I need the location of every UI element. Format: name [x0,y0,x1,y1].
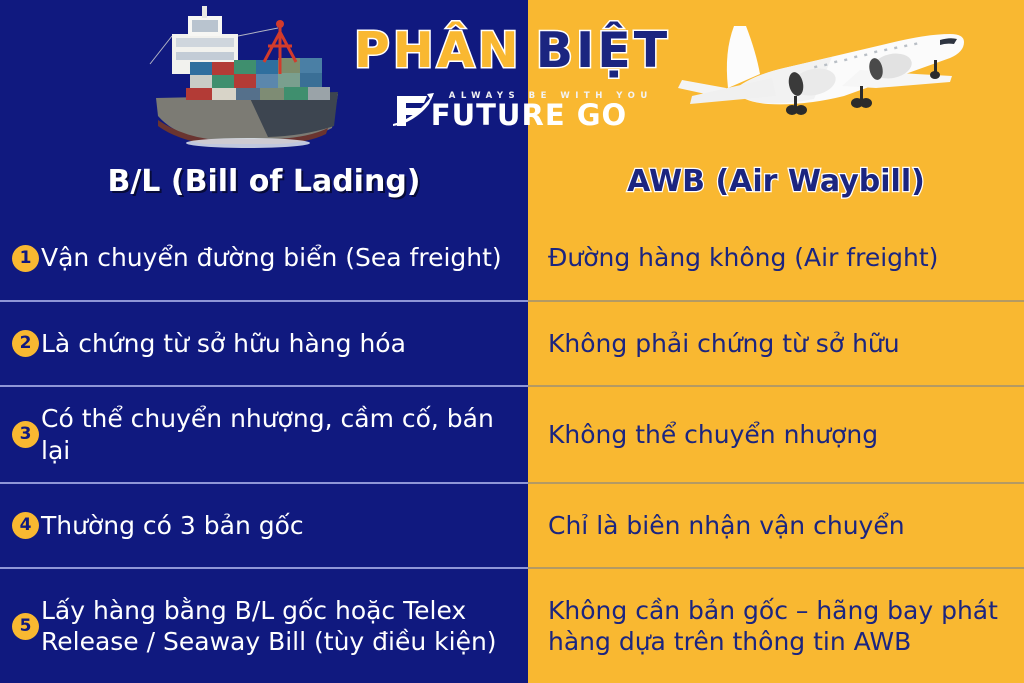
infographic-root: PHÂNBIỆT ALWAYS BE WITH YOU FUTURE GO B/… [0,0,1024,683]
row-3-left-cell: 3 Có thể chuyển nhượng, cầm cố, bán lại [0,385,528,482]
brand-logo: ALWAYS BE WITH YOU FUTURE GO [0,88,1024,134]
column-header-awb: AWB (Air Waybill) [528,148,1024,216]
row-1-right-cell: Đường hàng không (Air freight) [528,216,1024,300]
row-2-right-cell: Không phải chứng từ sở hữu [528,300,1024,385]
row-4-right-text: Chỉ là biên nhận vận chuyển [548,510,905,542]
column-header-bl: B/L (Bill of Lading) [0,148,528,216]
logo-wordmark: FUTURE GO [431,101,627,130]
row-2-right-text: Không phải chứng từ sở hữu [548,328,900,360]
row-5-left-text: Lấy hàng bằng B/L gốc hoặc Telex Release… [41,595,514,658]
row-1-left-cell: 1 Vận chuyển đường biển (Sea freight) [0,216,528,300]
table-row: 5 Lấy hàng bằng B/L gốc hoặc Telex Relea… [0,567,1024,683]
row-number-badge: 3 [12,421,39,448]
row-number-badge: 4 [12,512,39,539]
title-word-left: PHÂN [354,22,522,79]
table-row: 3 Có thể chuyển nhượng, cầm cố, bán lại … [0,385,1024,482]
table-row: 4 Thường có 3 bản gốc Chỉ là biên nhận v… [0,482,1024,567]
table-row: 1 Vận chuyển đường biển (Sea freight) Đư… [0,216,1024,300]
row-2-left-cell: 2 Là chứng từ sở hữu hàng hóa [0,300,528,385]
comparison-table: 1 Vận chuyển đường biển (Sea freight) Đư… [0,216,1024,683]
row-4-right-cell: Chỉ là biên nhận vận chuyển [528,482,1024,567]
row-5-right-cell: Không cần bản gốc – hãng bay phát hàng d… [528,567,1024,683]
table-row: 2 Là chứng từ sở hữu hàng hóa Không phải… [0,300,1024,385]
page-title: PHÂNBIỆT [0,26,1024,75]
row-1-left-text: Vận chuyển đường biển (Sea freight) [41,242,502,274]
hero-band: PHÂNBIỆT ALWAYS BE WITH YOU FUTURE GO [0,0,1024,148]
row-3-right-cell: Không thể chuyển nhượng [528,385,1024,482]
row-3-right-text: Không thể chuyển nhượng [548,419,878,451]
row-number-badge: 2 [12,330,39,357]
row-1-right-text: Đường hàng không (Air freight) [548,242,938,274]
row-number-badge: 1 [12,245,39,272]
row-5-right-text: Không cần bản gốc – hãng bay phát hàng d… [548,595,1010,658]
row-2-left-text: Là chứng từ sở hữu hàng hóa [41,328,406,360]
row-4-left-cell: 4 Thường có 3 bản gốc [0,482,528,567]
row-4-left-text: Thường có 3 bản gốc [41,510,304,542]
title-word-right: BIỆT [536,22,670,79]
column-headers: B/L (Bill of Lading) AWB (Air Waybill) [0,148,1024,216]
row-3-left-text: Có thể chuyển nhượng, cầm cố, bán lại [41,403,514,466]
row-5-left-cell: 5 Lấy hàng bằng B/L gốc hoặc Telex Relea… [0,567,528,683]
row-number-badge: 5 [12,613,39,640]
